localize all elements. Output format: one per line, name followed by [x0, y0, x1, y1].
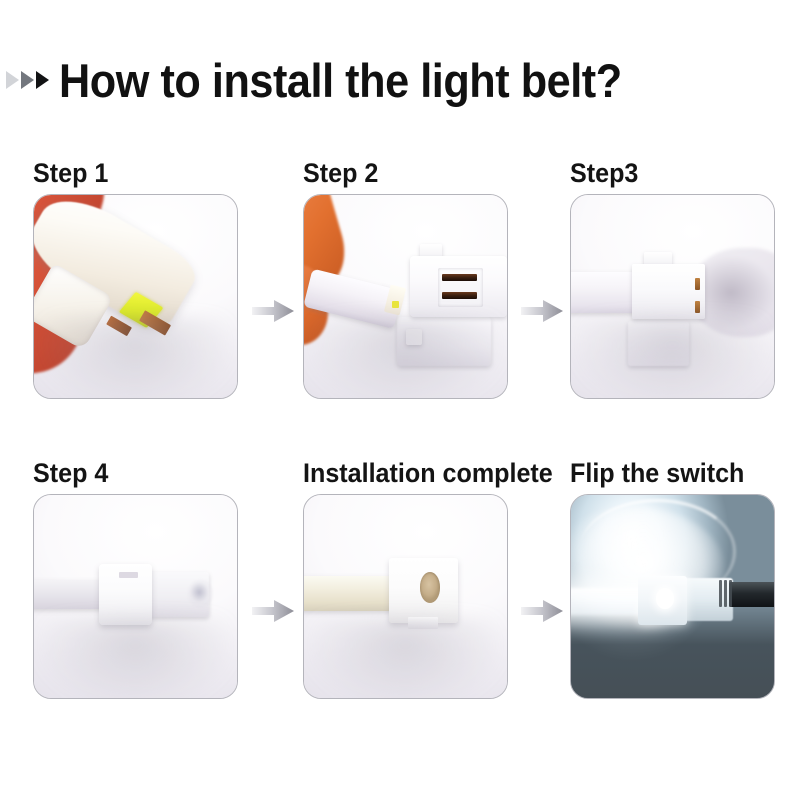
step-label-installation-complete: Installation complete — [303, 460, 494, 494]
photo-shadow — [33, 317, 238, 399]
connector-port-glow — [656, 588, 673, 608]
page-header: How to install the light belt? — [0, 52, 800, 108]
arrow-right-icon-step4-to-step5 — [252, 598, 294, 624]
contact-pin-top — [695, 278, 700, 290]
light-belt-strip — [303, 576, 393, 611]
arrow-right-icon-step1-to-step2 — [252, 298, 294, 324]
photo-shadow — [570, 317, 775, 399]
step-card-step-4: Step 4 — [33, 460, 238, 699]
step-photo-step-1 — [33, 194, 238, 399]
step-label-step-2: Step 2 — [303, 160, 494, 194]
led-chip — [392, 301, 399, 308]
arrow-glyph-dark — [36, 71, 49, 89]
step-photo-step-3 — [570, 194, 775, 399]
step-photo-step-2 — [303, 194, 508, 399]
step-card-flip-the-switch: Flip the switch — [570, 460, 775, 699]
steps-row-1: Step 1 — [0, 160, 800, 460]
step-card-step-3: Step3 — [570, 160, 775, 399]
page-title: How to install the light belt? — [59, 57, 622, 104]
contact-pin-bottom — [695, 301, 700, 313]
arrow-right-icon-step5-to-step6 — [521, 598, 563, 624]
contact-pin-top — [442, 274, 477, 280]
cable-strain-relief-rib — [724, 580, 727, 606]
step-photo-installation-complete — [303, 494, 508, 699]
arrow-glyph-light — [6, 71, 19, 89]
photo-shadow — [303, 617, 508, 699]
arrow-right-icon-step2-to-step3 — [521, 298, 563, 324]
step-label-step-4: Step 4 — [33, 460, 224, 494]
step-card-installation-complete: Installation complete — [303, 460, 508, 699]
step-label-step-1: Step 1 — [33, 160, 224, 194]
connector-end-cap — [188, 580, 212, 606]
power-cable — [729, 582, 775, 606]
steps-grid: Step 1 — [0, 160, 800, 760]
photo-shadow — [303, 317, 508, 399]
step-photo-flip-the-switch — [570, 494, 775, 699]
arrow-glyph-mid — [21, 71, 34, 89]
connector-latch-slot — [119, 572, 137, 578]
cable-strain-relief-rib — [729, 580, 732, 606]
step-photo-step-4 — [33, 494, 238, 699]
step-label-flip-the-switch: Flip the switch — [570, 460, 761, 494]
steps-row-2: Step 4 Installation complete — [0, 460, 800, 760]
step-label-step-3: Step3 — [570, 160, 761, 194]
cable-strain-relief-rib — [719, 580, 722, 606]
triple-arrow-right-icon — [6, 71, 49, 89]
contact-pin-bottom — [442, 292, 477, 298]
step-card-step-2: Step 2 — [303, 160, 508, 399]
photo-shadow — [33, 617, 238, 699]
connector-port-hole — [420, 572, 440, 602]
step-card-step-1: Step 1 — [33, 160, 238, 399]
